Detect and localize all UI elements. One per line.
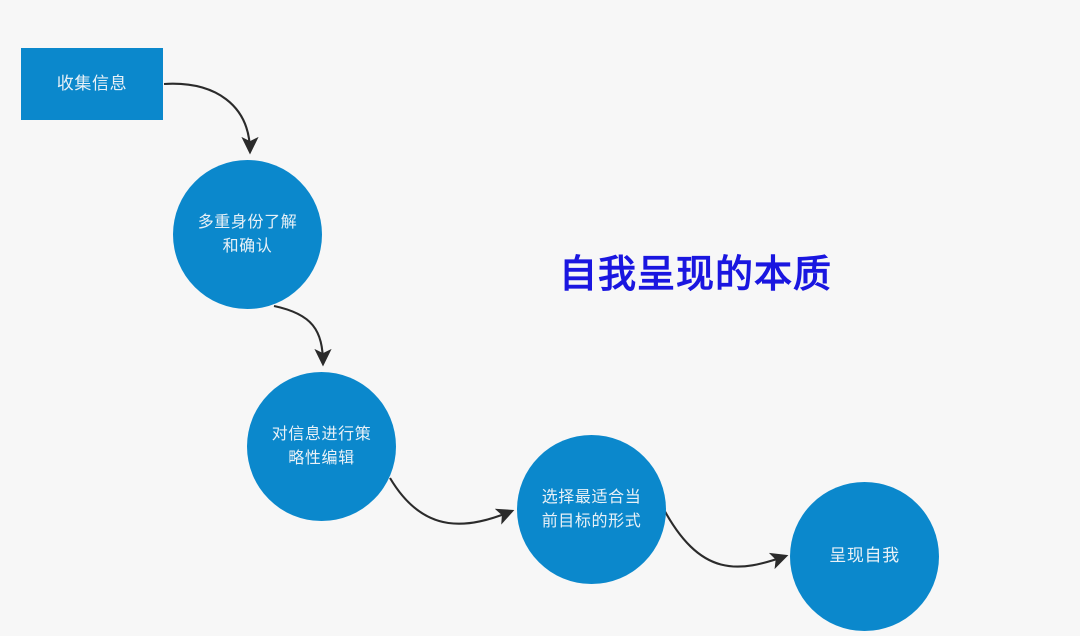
- edge-form-to-present: [661, 504, 786, 567]
- edge-collect-to-identity: [164, 84, 250, 152]
- node-choose-form[interactable]: 选择最适合当 前目标的形式: [517, 435, 666, 584]
- edge-edit-to-form: [390, 478, 512, 524]
- flowchart-canvas: 收集信息 多重身份了解 和确认 对信息进行策 略性编辑 选择最适合当 前目标的形…: [0, 0, 1080, 636]
- diagram-title: 自我呈现的本质: [559, 243, 832, 298]
- edge-identity-to-edit: [274, 306, 323, 364]
- node-collect-information-label: 收集信息: [47, 72, 137, 97]
- node-strategic-editing-label: 对信息进行策 略性编辑: [262, 423, 382, 469]
- node-choose-form-label: 选择最适合当 前目标的形式: [532, 486, 652, 532]
- node-collect-information[interactable]: 收集信息: [21, 48, 163, 120]
- node-present-self[interactable]: 呈现自我: [790, 482, 939, 631]
- node-identity-understanding-label: 多重身份了解 和确认: [188, 211, 308, 257]
- node-identity-understanding[interactable]: 多重身份了解 和确认: [173, 160, 322, 309]
- node-strategic-editing[interactable]: 对信息进行策 略性编辑: [247, 372, 396, 521]
- node-present-self-label: 呈现自我: [819, 544, 909, 569]
